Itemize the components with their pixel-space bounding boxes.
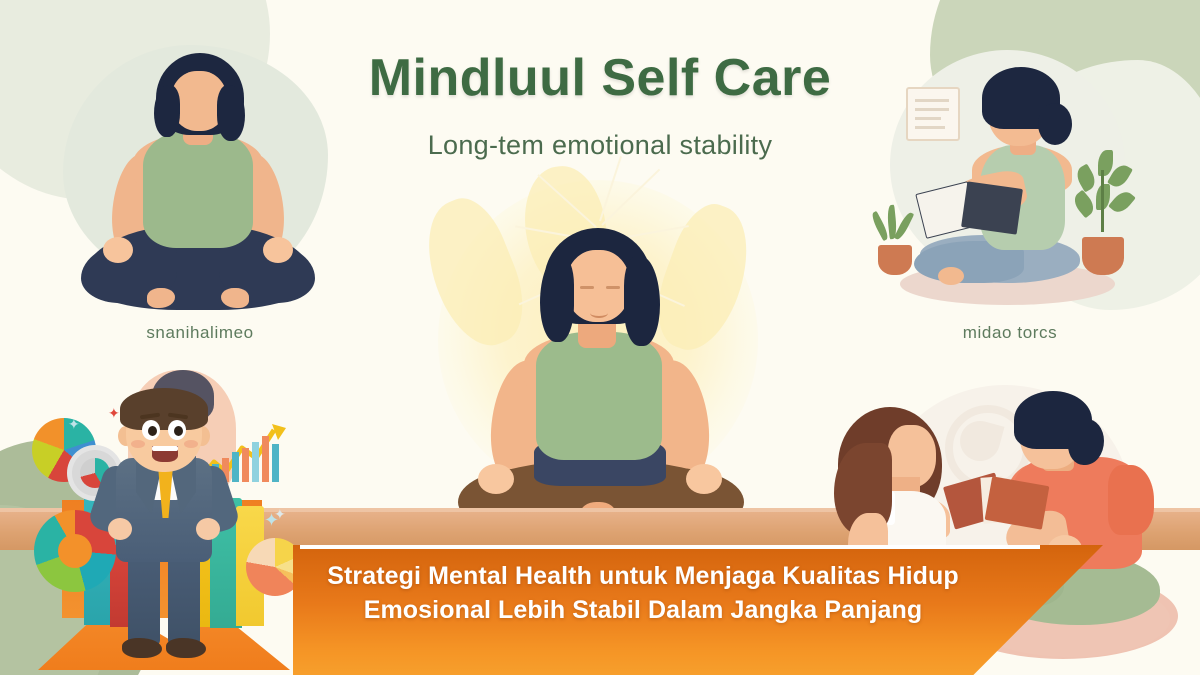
right-foot: [221, 288, 249, 308]
woman-b-right-sleeve: [1108, 465, 1154, 535]
scene-caption-left: snanihalimeo: [55, 323, 345, 343]
left-hand: [478, 464, 514, 494]
mascot-right-shoe: [166, 638, 206, 658]
scene-business-mascot: ✦ ✦ ✦ ✦: [0, 370, 310, 675]
mascot-hair: [120, 388, 208, 430]
right-eyebrow: [606, 286, 620, 289]
hair-left-strand: [540, 256, 574, 342]
hair-left-strand: [154, 85, 180, 137]
mascot-legs: [128, 548, 200, 658]
sparkle-icon-2: ✦: [108, 405, 120, 422]
banner-line-1: Strategi Mental Health untuk Menjaga Kua…: [293, 560, 993, 594]
mascot-left-hand: [108, 518, 132, 540]
plant-right-icon: [1072, 150, 1134, 242]
sparkle-icon-1: ✦: [68, 416, 80, 433]
scene-reading-right: midao torcs: [860, 45, 1160, 345]
sparkle-icon-4: ✦: [264, 510, 279, 531]
hair-bun: [1038, 103, 1072, 145]
mascot-left-cheek: [131, 440, 145, 448]
mascot-right-cheek: [184, 440, 198, 448]
book-right-page: [961, 181, 1023, 234]
right-hand: [263, 237, 293, 263]
scene-caption-right: midao torcs: [860, 323, 1160, 343]
right-hand: [686, 464, 722, 494]
mascot-right-leg: [168, 548, 200, 646]
mascot-right-pupil: [174, 426, 183, 436]
mascot-teeth: [152, 446, 178, 451]
banner-text-block: Strategi Mental Health untuk Menjaga Kua…: [293, 560, 993, 627]
tank-top: [536, 332, 662, 460]
donut-chart-hole: [58, 534, 92, 568]
mascot-left-leg: [128, 548, 160, 646]
smile: [590, 308, 608, 318]
wall-frame-icon: [906, 87, 960, 141]
tank-top: [143, 130, 253, 248]
mascot-left-shoe: [122, 638, 162, 658]
scene-meditation-left: snanihalimeo: [55, 45, 345, 345]
foot: [938, 267, 964, 285]
banner-line-2: Emosional Lebih Stabil Dalam Jangka Panj…: [293, 594, 993, 628]
left-eyebrow: [580, 286, 594, 289]
plant-pot-left: [878, 245, 912, 275]
plant-pot-right: [1082, 237, 1124, 275]
poster-canvas: Mindluul Self Care Long-tem emotional st…: [0, 0, 1200, 675]
scene-meditation-center: [430, 180, 770, 545]
banner-top-rule: [300, 545, 1040, 549]
left-hand: [103, 237, 133, 263]
mascot-left-pupil: [148, 426, 157, 436]
mascot-right-hand: [196, 518, 220, 540]
